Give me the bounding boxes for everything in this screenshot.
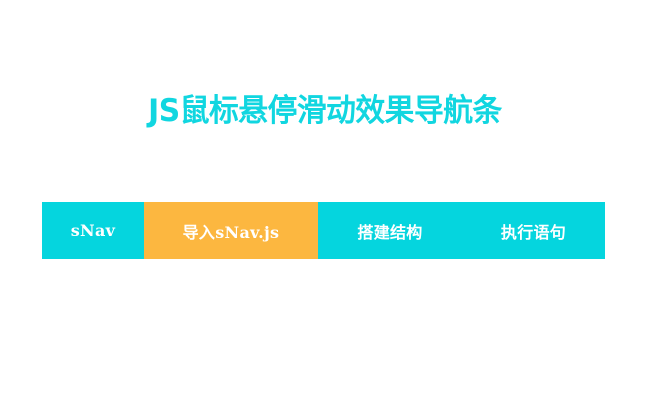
nav-item-label: 执行语句 <box>501 219 566 243</box>
page-title: JS鼠标悬停滑动效果导航条 <box>13 90 637 132</box>
navigation-bar: sNav 导入sNav.js 搭建结构 执行语句 <box>42 202 605 259</box>
nav-item-execute-statement[interactable]: 执行语句 <box>462 202 605 259</box>
nav-item-import-snav-js[interactable]: 导入sNav.js <box>144 202 318 259</box>
nav-item-label: 搭建结构 <box>357 219 422 243</box>
nav-item-build-structure[interactable]: 搭建结构 <box>318 202 462 259</box>
nav-item-label: sNav <box>71 221 116 240</box>
nav-item-label: 导入sNav.js <box>183 219 280 243</box>
nav-item-snav[interactable]: sNav <box>42 202 144 259</box>
